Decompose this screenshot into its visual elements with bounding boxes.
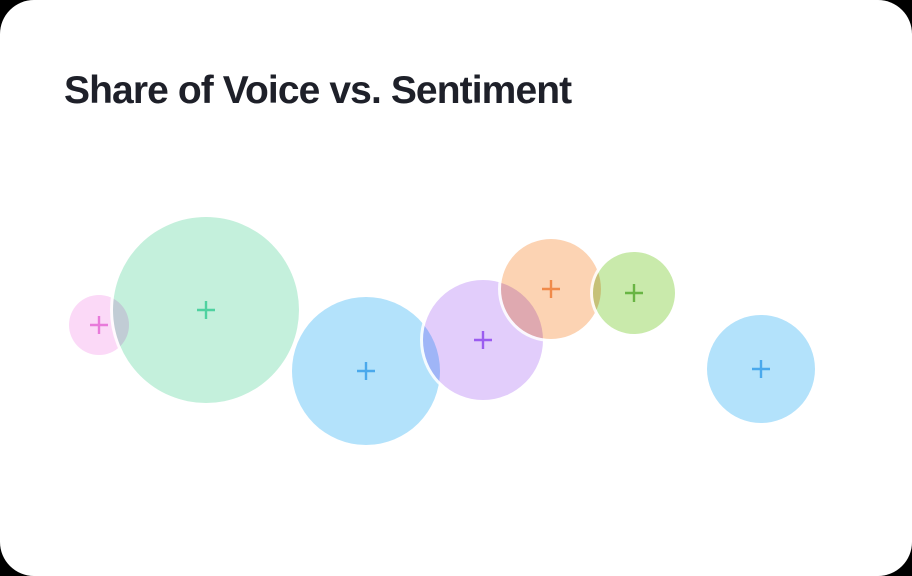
bubble-point[interactable] bbox=[291, 296, 442, 447]
bubble-series bbox=[68, 216, 817, 447]
bubble-point[interactable] bbox=[500, 238, 603, 341]
bubble-point[interactable] bbox=[592, 251, 677, 336]
bubble-chart-svg bbox=[0, 0, 912, 576]
bubble-point[interactable] bbox=[112, 216, 301, 405]
bubble-point[interactable] bbox=[706, 314, 817, 425]
chart-card: Share of Voice vs. Sentiment bbox=[0, 0, 912, 576]
bubble-chart-plot-area bbox=[0, 0, 912, 576]
